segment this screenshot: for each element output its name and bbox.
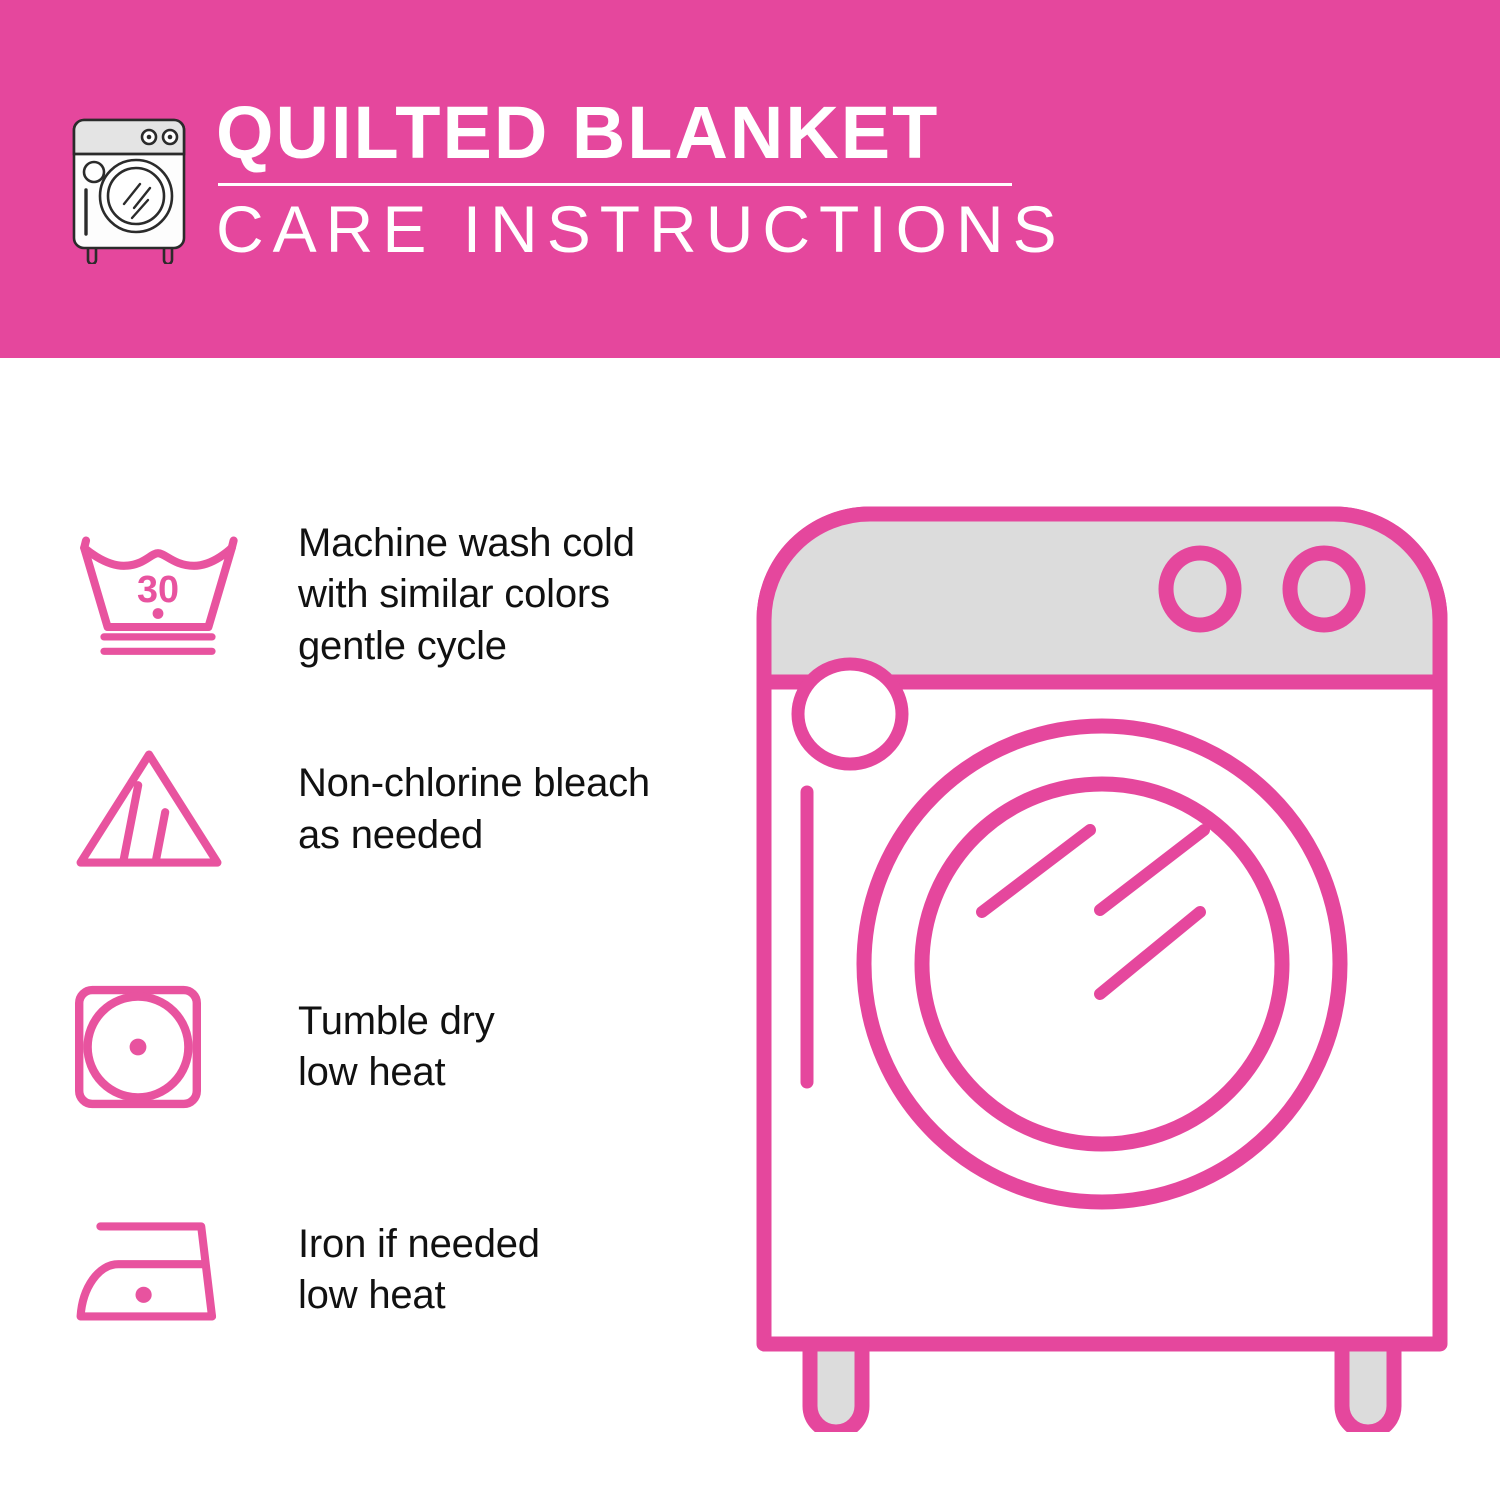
list-item: Tumble dry low heat (68, 967, 708, 1127)
care-instructions-page: QUILTED BLANKET CARE INSTRUCTIONS 30 (0, 0, 1500, 1500)
title-divider (218, 183, 1012, 186)
list-item: Non-chlorine bleach as needed (68, 727, 708, 892)
iron-low-heat-icon (68, 1212, 298, 1329)
header-titles: QUILTED BLANKET CARE INSTRUCTIONS (216, 96, 1016, 262)
tumble-dry-low-icon (68, 977, 298, 1117)
instruction-text: Machine wash cold with similar colors ge… (298, 518, 708, 672)
wash-temperature-label: 30 (137, 568, 179, 610)
instruction-text: Non-chlorine bleach as needed (298, 758, 708, 860)
non-chlorine-bleach-triangle-icon (68, 742, 298, 877)
washing-machine-icon (62, 104, 202, 264)
page-subtitle: CARE INSTRUCTIONS (216, 196, 1016, 262)
list-item: Iron if needed low heat (68, 1195, 708, 1345)
instruction-text: Tumble dry low heat (298, 996, 708, 1098)
wash-tub-30-icon: 30 (68, 528, 298, 663)
instruction-text: Iron if needed low heat (298, 1219, 708, 1321)
washing-machine-illustration (742, 492, 1462, 1432)
page-title: QUILTED BLANKET (216, 96, 1016, 170)
header-band: QUILTED BLANKET CARE INSTRUCTIONS (0, 0, 1500, 358)
list-item: 30 Machine wash cold with similar colors… (68, 505, 708, 685)
